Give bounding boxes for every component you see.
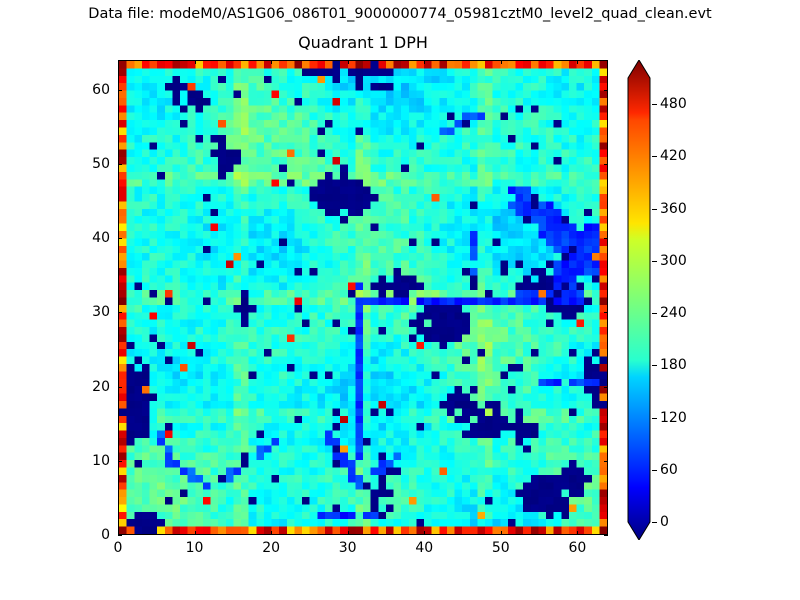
y-tick-20 <box>604 387 608 388</box>
x-tick-60 <box>577 60 578 64</box>
y-tick-label-0: 0 <box>72 527 110 543</box>
y-tick-label-50: 50 <box>72 156 110 172</box>
y-tick-label-40: 40 <box>72 230 110 246</box>
colorbar-tick-label-240: 240 <box>660 305 687 321</box>
colorbar-tick-480 <box>652 104 657 105</box>
y-tick-30 <box>604 312 608 313</box>
colorbar-tick-180 <box>652 365 657 366</box>
x-tick-40 <box>424 60 425 64</box>
colorbar-tick-label-420: 420 <box>660 148 687 164</box>
y-tick-10 <box>604 461 608 462</box>
y-tick-50 <box>118 164 122 165</box>
y-tick-0 <box>118 535 122 536</box>
y-tick-60 <box>604 90 608 91</box>
y-tick-label-30: 30 <box>72 304 110 320</box>
colorbar-tick-240 <box>652 313 657 314</box>
x-tick-50 <box>501 531 502 535</box>
x-tick-0 <box>118 60 119 64</box>
figure-canvas: Data file: modeM0/AS1G06_086T01_90000007… <box>0 0 800 600</box>
colorbar-tick-label-300: 300 <box>660 253 687 269</box>
y-tick-50 <box>604 164 608 165</box>
x-tick-label-20: 20 <box>262 540 280 556</box>
x-tick-10 <box>195 531 196 535</box>
colorbar-tick-label-480: 480 <box>660 96 687 112</box>
y-tick-40 <box>118 238 122 239</box>
data-file-suptitle: Data file: modeM0/AS1G06_086T01_90000007… <box>0 6 800 22</box>
colorbar-tick-label-180: 180 <box>660 357 687 373</box>
x-tick-50 <box>501 60 502 64</box>
colorbar-tick-label-360: 360 <box>660 201 687 217</box>
page-title: Quadrant 1 DPH <box>118 33 608 52</box>
x-tick-30 <box>348 60 349 64</box>
x-tick-30 <box>348 531 349 535</box>
x-tick-label-30: 30 <box>339 540 357 556</box>
x-tick-60 <box>577 531 578 535</box>
colorbar-tick-60 <box>652 470 657 471</box>
y-tick-label-10: 10 <box>72 453 110 469</box>
y-tick-label-60: 60 <box>72 82 110 98</box>
dph-heatmap-image <box>119 61 607 534</box>
x-tick-label-40: 40 <box>415 540 433 556</box>
x-tick-20 <box>271 531 272 535</box>
colorbar-tick-120 <box>652 418 657 419</box>
y-tick-0 <box>604 535 608 536</box>
heatmap-axes <box>118 60 608 535</box>
x-tick-label-60: 60 <box>568 540 586 556</box>
colorbar <box>626 60 652 540</box>
x-tick-20 <box>271 60 272 64</box>
colorbar-tick-360 <box>652 209 657 210</box>
y-tick-10 <box>118 461 122 462</box>
x-tick-40 <box>424 531 425 535</box>
y-tick-30 <box>118 312 122 313</box>
colorbar-tick-420 <box>652 156 657 157</box>
y-tick-label-20: 20 <box>72 379 110 395</box>
x-tick-label-10: 10 <box>186 540 204 556</box>
colorbar-tick-300 <box>652 261 657 262</box>
y-tick-20 <box>118 387 122 388</box>
colorbar-tick-0 <box>652 522 657 523</box>
x-tick-10 <box>195 60 196 64</box>
y-tick-40 <box>604 238 608 239</box>
colorbar-tick-label-120: 120 <box>660 410 687 426</box>
colorbar-gradient <box>626 60 652 540</box>
colorbar-tick-label-60: 60 <box>660 462 678 478</box>
y-tick-60 <box>118 90 122 91</box>
x-tick-label-50: 50 <box>492 540 510 556</box>
colorbar-tick-label-0: 0 <box>660 514 669 530</box>
x-tick-label-0: 0 <box>114 540 123 556</box>
